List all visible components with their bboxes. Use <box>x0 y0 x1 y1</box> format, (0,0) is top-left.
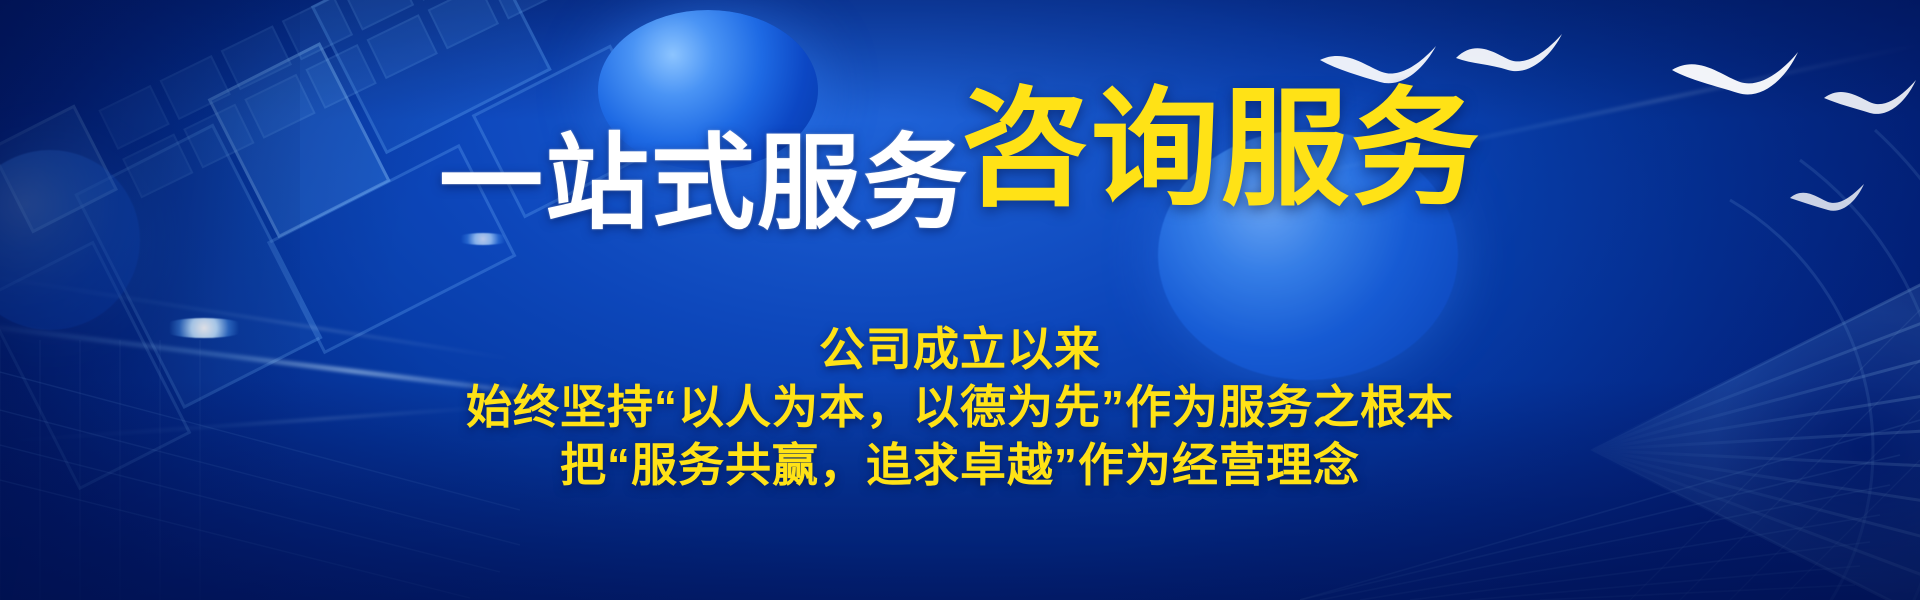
background-vignette <box>0 0 1920 600</box>
promo-banner: 一站式服务 咨询服务 公司成立以来 始终坚持“以人为本，以德为先”作为服务之根本… <box>0 0 1920 600</box>
bird-4-icon <box>1822 78 1918 118</box>
bird-1-icon <box>1318 40 1438 88</box>
bird-3-icon <box>1670 48 1800 100</box>
bird-5-icon <box>1788 182 1866 214</box>
bird-2-icon <box>1454 32 1564 76</box>
